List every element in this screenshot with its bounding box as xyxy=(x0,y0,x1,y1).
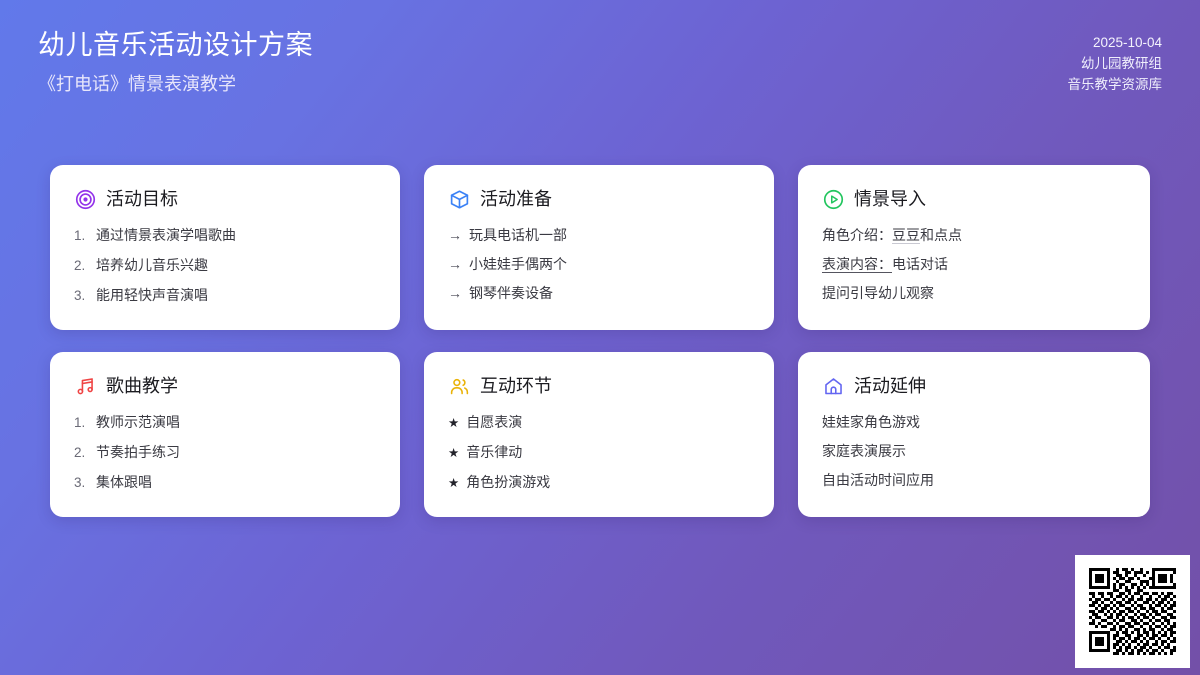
home-icon xyxy=(822,375,844,397)
card-activity-extension[interactable]: 活动延伸 娃娃家角色游戏 家庭表演展示 自由活动时间应用 xyxy=(798,352,1150,517)
list-text-highlight: 娃娃家 xyxy=(822,412,864,432)
list-text: 通过情景表演学唱歌曲 xyxy=(96,225,236,245)
list-item: → 小娃娃手偶两个 xyxy=(448,254,750,274)
list-item: ★ 角色扮演游戏 xyxy=(448,472,750,493)
card-title: 活动目标 xyxy=(106,187,178,211)
list-text: 钢琴伴奏设备 xyxy=(469,283,553,303)
list-marker: 2. xyxy=(74,443,89,463)
users-icon xyxy=(448,375,470,397)
card-title: 活动准备 xyxy=(480,187,552,211)
slide-header: 幼儿音乐活动设计方案 《打电话》情景表演教学 2025-10-04 幼儿园教研组… xyxy=(0,0,1200,140)
list-item: 提问引导幼儿观察 xyxy=(822,283,1126,303)
card-title: 互动环节 xyxy=(480,374,552,398)
card-title: 歌曲教学 xyxy=(106,374,178,398)
card-body: 角色介绍：豆豆和点点 表演内容：电话对话 提问引导幼儿观察 xyxy=(822,225,1126,303)
card-header: 歌曲教学 xyxy=(74,374,376,398)
list-marker: → xyxy=(448,225,462,245)
list-item: 3. 能用轻快声音演唱 xyxy=(74,285,376,306)
list-text: 培养幼儿音乐兴趣 xyxy=(96,255,208,275)
list-text: 角色扮演游戏 xyxy=(466,472,550,492)
card-body: 1. 教师示范演唱 2. 节奏拍手练习 3. 集体跟唱 xyxy=(74,412,376,493)
meta-library: 音乐教学资源库 xyxy=(1068,74,1163,95)
list-text: 集体跟唱 xyxy=(96,472,152,492)
card-activity-preparation[interactable]: 活动准备 → 玩具电话机一部 → 小娃娃手偶两个 → 钢琴伴奏设备 xyxy=(424,165,774,330)
card-body: 娃娃家角色游戏 家庭表演展示 自由活动时间应用 xyxy=(822,412,1126,490)
list-item: 3. 集体跟唱 xyxy=(74,472,376,493)
card-header: 情景导入 xyxy=(822,187,1126,211)
meta-org: 幼儿园教研组 xyxy=(1068,53,1163,74)
list-marker: 1. xyxy=(74,413,89,433)
card-header: 活动延伸 xyxy=(822,374,1126,398)
list-item: 表演内容：电话对话 xyxy=(822,254,1126,274)
page-subtitle: 《打电话》情景表演教学 xyxy=(38,70,313,98)
list-item: 角色介绍：豆豆和点点 xyxy=(822,225,1126,245)
list-text-underlined: 表演内容： xyxy=(822,254,892,274)
list-text: 提问引导幼儿观察 xyxy=(822,283,934,303)
card-scene-introduction[interactable]: 情景导入 角色介绍：豆豆和点点 表演内容：电话对话 提问引导幼儿观察 xyxy=(798,165,1150,330)
card-activity-goals[interactable]: 活动目标 1. 通过情景表演学唱歌曲 2. 培养幼儿音乐兴趣 3. 能用轻快声音… xyxy=(50,165,400,330)
list-marker: ★ xyxy=(448,413,459,433)
header-left-block: 幼儿音乐活动设计方案 《打电话》情景表演教学 xyxy=(38,26,313,98)
qr-code-panel[interactable] xyxy=(1075,555,1190,668)
list-item: 1. 通过情景表演学唱歌曲 xyxy=(74,225,376,246)
list-marker: ★ xyxy=(448,473,459,493)
list-item: 2. 培养幼儿音乐兴趣 xyxy=(74,255,376,276)
list-marker: 3. xyxy=(74,286,89,306)
list-item: 娃娃家角色游戏 xyxy=(822,412,1126,432)
meta-date: 2025-10-04 xyxy=(1068,32,1163,53)
header-meta-block: 2025-10-04 幼儿园教研组 音乐教学资源库 xyxy=(1068,32,1163,95)
target-icon xyxy=(74,188,96,210)
list-text-suffix: 电话对话 xyxy=(892,254,948,274)
list-marker: → xyxy=(448,254,462,274)
card-body: 1. 通过情景表演学唱歌曲 2. 培养幼儿音乐兴趣 3. 能用轻快声音演唱 xyxy=(74,225,376,306)
list-item: 2. 节奏拍手练习 xyxy=(74,442,376,463)
list-text-suffix: 和点点 xyxy=(920,225,962,245)
card-header: 活动目标 xyxy=(74,187,376,211)
list-marker: 1. xyxy=(74,226,89,246)
list-text: 节奏拍手练习 xyxy=(96,442,180,462)
card-interactive-session[interactable]: 互动环节 ★ 自愿表演 ★ 音乐律动 ★ 角色扮演游戏 xyxy=(424,352,774,517)
list-marker: ★ xyxy=(448,443,459,463)
list-text: 能用轻快声音演唱 xyxy=(96,285,208,305)
list-marker: → xyxy=(448,283,462,303)
card-header: 互动环节 xyxy=(448,374,750,398)
list-marker: 3. xyxy=(74,473,89,493)
card-body: → 玩具电话机一部 → 小娃娃手偶两个 → 钢琴伴奏设备 xyxy=(448,225,750,303)
card-title: 情景导入 xyxy=(854,187,926,211)
card-body: ★ 自愿表演 ★ 音乐律动 ★ 角色扮演游戏 xyxy=(448,412,750,493)
list-text: 教师示范演唱 xyxy=(96,412,180,432)
list-item: → 玩具电话机一部 xyxy=(448,225,750,245)
card-song-teaching[interactable]: 歌曲教学 1. 教师示范演唱 2. 节奏拍手练习 3. 集体跟唱 xyxy=(50,352,400,517)
list-text-prefix: 角色介绍： xyxy=(822,225,892,245)
qr-code[interactable] xyxy=(1089,568,1176,655)
list-text: 自愿表演 xyxy=(466,412,522,432)
cards-grid: 活动目标 1. 通过情景表演学唱歌曲 2. 培养幼儿音乐兴趣 3. 能用轻快声音… xyxy=(50,165,1150,517)
list-text: 小娃娃手偶两个 xyxy=(469,254,567,274)
list-item: 1. 教师示范演唱 xyxy=(74,412,376,433)
music-note-icon xyxy=(74,375,96,397)
list-text: 自由活动时间应用 xyxy=(822,470,934,490)
list-text: 玩具电话机一部 xyxy=(469,225,567,245)
list-text-underlined: 豆豆 xyxy=(892,225,920,245)
page-title: 幼儿音乐活动设计方案 xyxy=(38,26,313,64)
play-circle-icon xyxy=(822,188,844,210)
list-item: 家庭表演展示 xyxy=(822,441,1126,461)
card-title: 活动延伸 xyxy=(854,374,926,398)
list-item: → 钢琴伴奏设备 xyxy=(448,283,750,303)
box-icon xyxy=(448,188,470,210)
list-text: 家庭表演展示 xyxy=(822,441,906,461)
list-text-suffix: 角色游戏 xyxy=(864,412,920,432)
card-header: 活动准备 xyxy=(448,187,750,211)
list-marker: 2. xyxy=(74,256,89,276)
list-text: 音乐律动 xyxy=(466,442,522,462)
list-item: ★ 自愿表演 xyxy=(448,412,750,433)
list-item: 自由活动时间应用 xyxy=(822,470,1126,490)
list-item: ★ 音乐律动 xyxy=(448,442,750,463)
